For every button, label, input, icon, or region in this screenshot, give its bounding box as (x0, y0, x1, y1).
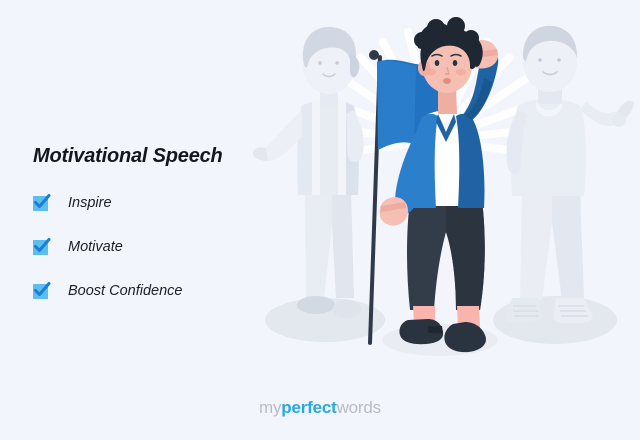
logo-part-perfect: perfect (281, 398, 336, 417)
checklist-item-label: Motivate (68, 239, 123, 255)
page-title: Motivational Speech (33, 145, 263, 168)
checklist-item-label: Inspire (68, 195, 112, 211)
checkbox-checked-icon[interactable] (33, 284, 48, 299)
logo-part-words: words (337, 398, 381, 417)
checklist-item-label: Boost Confidence (68, 283, 182, 299)
logo-part-my: my (259, 398, 281, 417)
slide-canvas: Motivational Speech Inspire Motivate (0, 0, 640, 440)
left-figure (253, 27, 364, 318)
checklist-item-boost-confidence[interactable]: Boost Confidence (33, 282, 263, 300)
checklist-item-motivate[interactable]: Motivate (33, 238, 263, 256)
text-block: Motivational Speech Inspire Motivate (33, 145, 263, 326)
illustration (250, 10, 640, 380)
checkbox-checked-icon[interactable] (33, 196, 48, 211)
right-figure (505, 26, 634, 323)
brand-logo: myperfectwords (0, 398, 640, 418)
checkbox-checked-icon[interactable] (33, 240, 48, 255)
checklist-item-inspire[interactable]: Inspire (33, 194, 263, 212)
